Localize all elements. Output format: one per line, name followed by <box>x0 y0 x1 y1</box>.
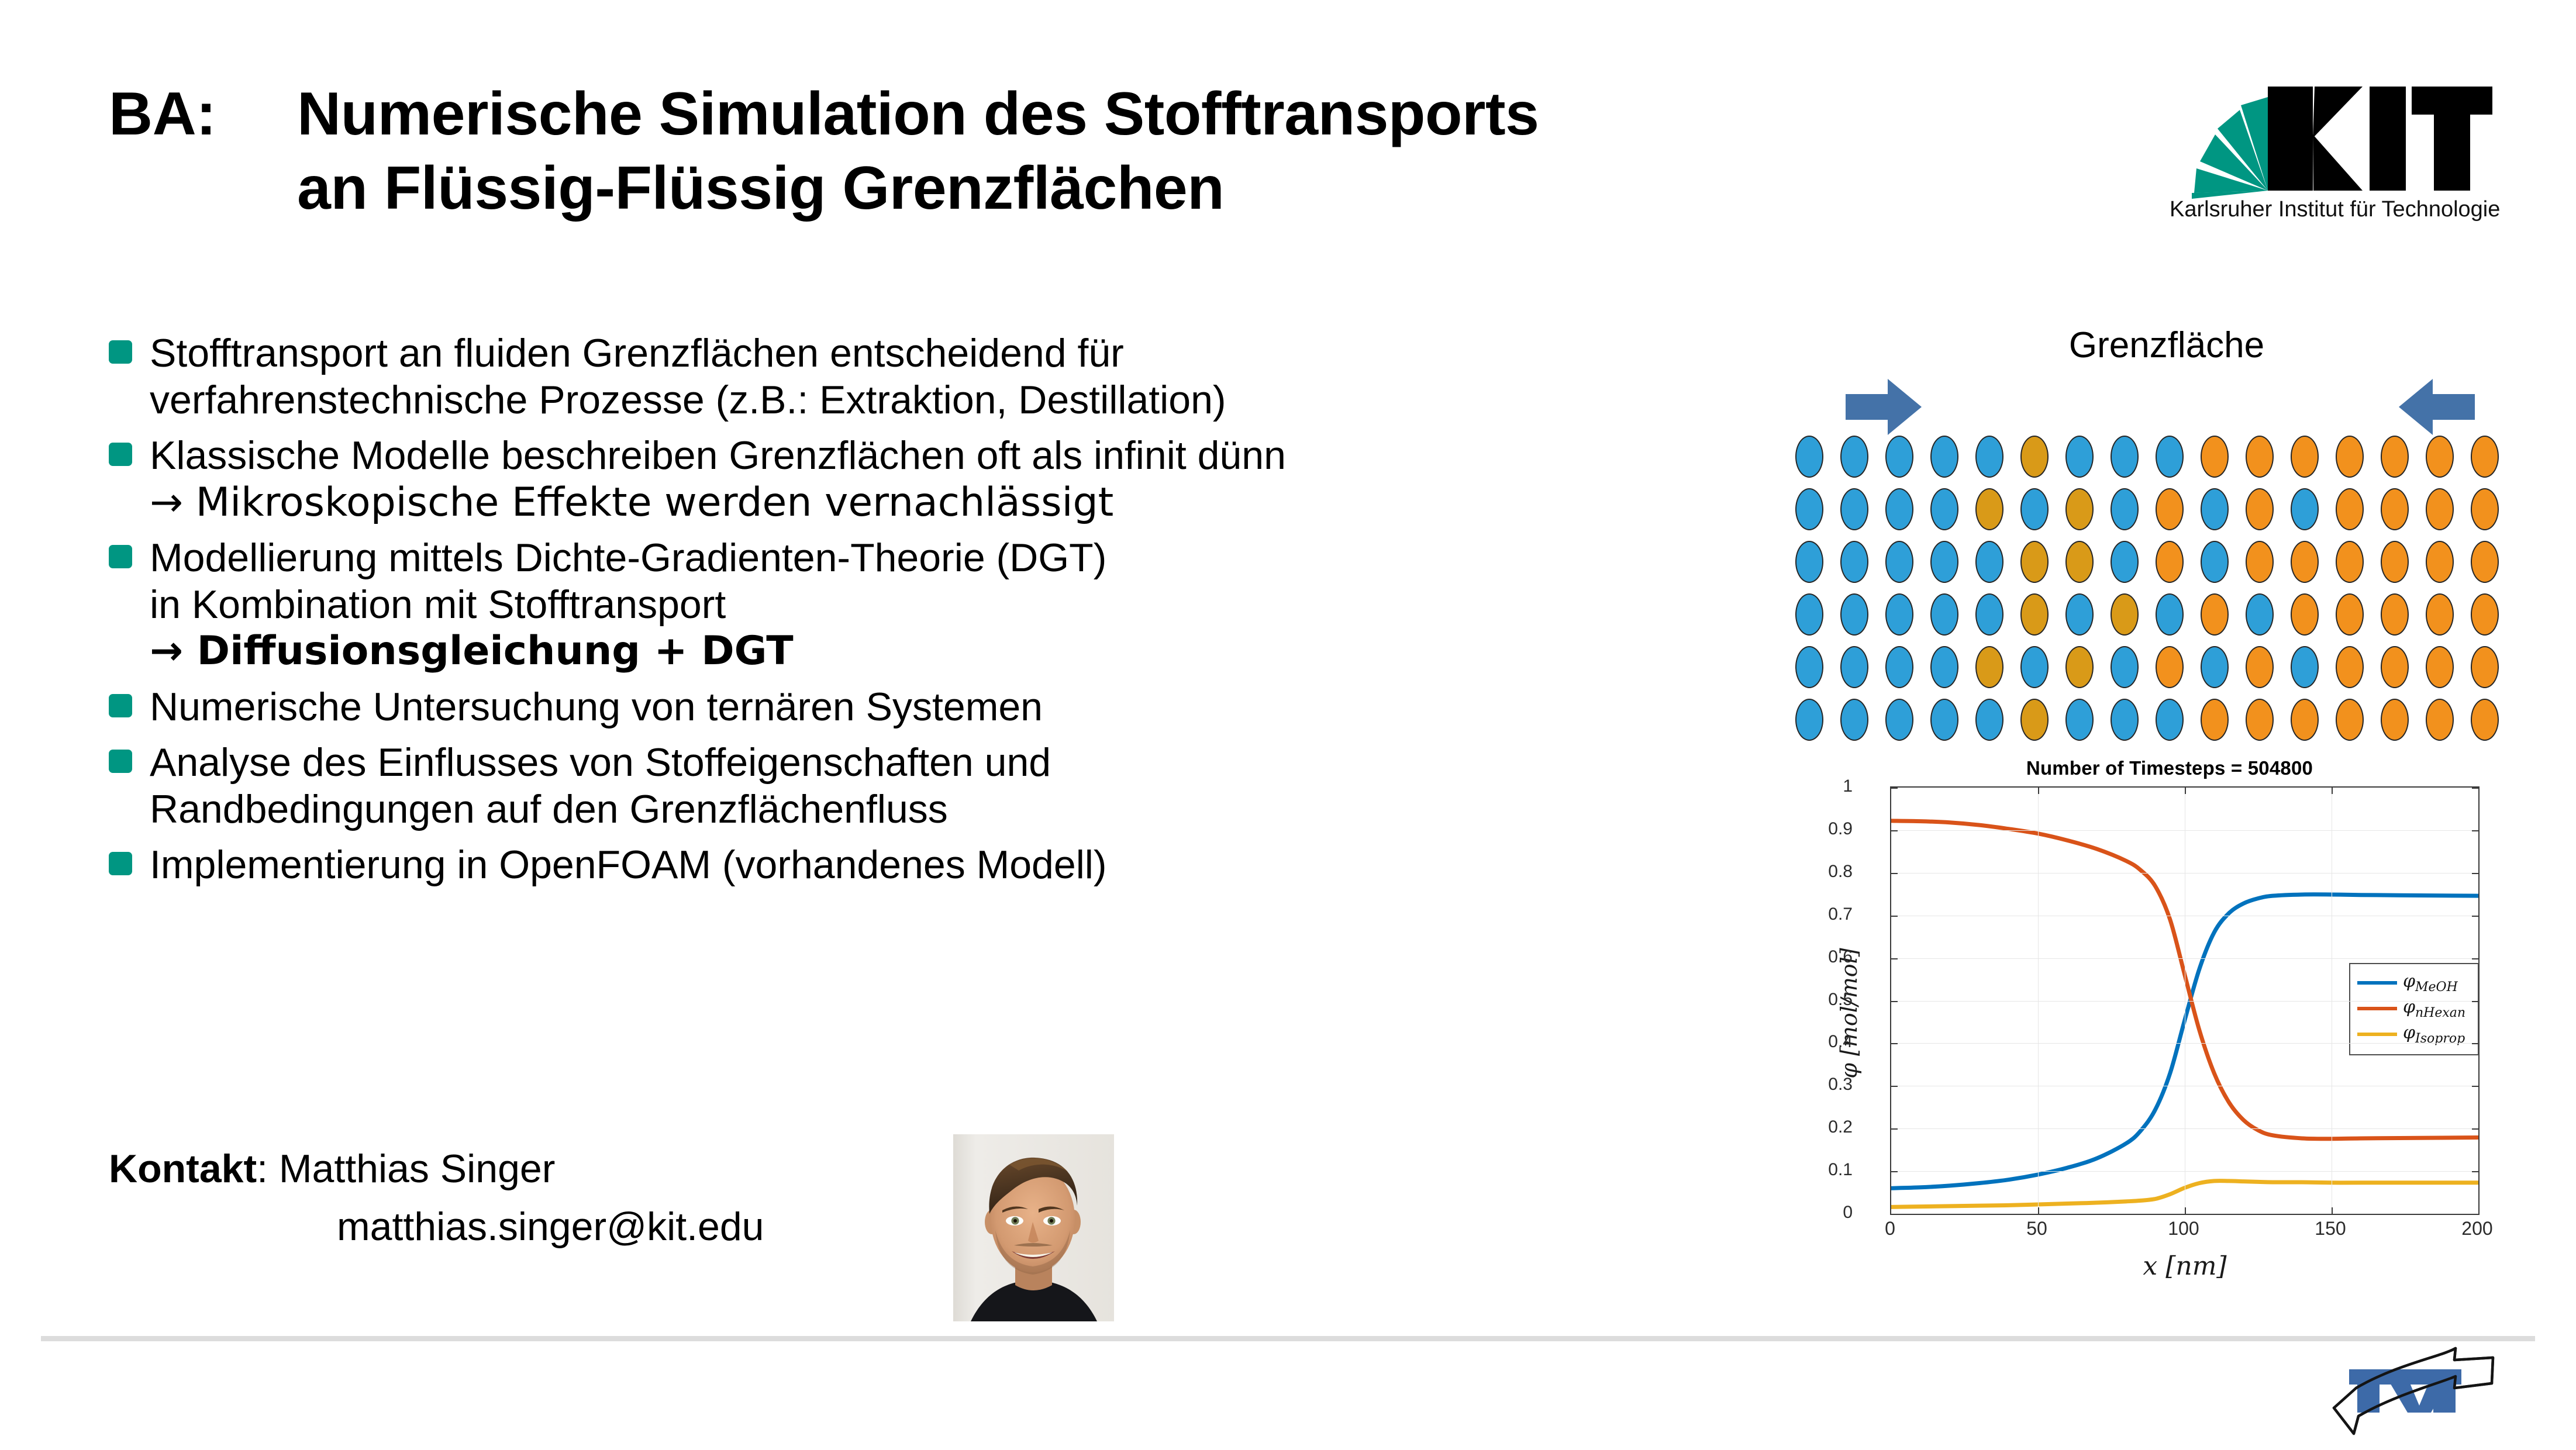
particle-dot-orange <box>2336 541 2364 583</box>
slide-canvas: BA:Numerische Simulation des Stofftransp… <box>0 0 2576 1450</box>
chart-tick-y <box>1891 788 1898 789</box>
particle-dot-orange <box>2426 646 2454 688</box>
particle-dot-blue <box>2065 699 2094 741</box>
bullet-list: Stofftransport an fluiden Grenzflächen e… <box>109 330 1758 898</box>
chart-tick-y <box>2472 1001 2478 1002</box>
particle-dot-blue <box>1975 593 2003 636</box>
chart-xtick-label: 0 <box>1849 1219 1931 1238</box>
bullet-line: Analyse des Einflusses von Stoffeigensch… <box>150 740 1051 786</box>
particle-dot-orange <box>2246 646 2274 688</box>
chart-ytick-label: 0.8 <box>1782 863 1853 881</box>
particle-dot-blue <box>2201 488 2229 530</box>
particle-dot-orange <box>2201 699 2229 741</box>
contact-separator: : <box>257 1147 279 1191</box>
chart-gridline-v <box>2038 788 2039 1214</box>
portrait-photo <box>953 1134 1114 1321</box>
legend-label-isoprop: φIsoprop <box>2403 1023 2465 1046</box>
particle-dot-blue <box>1930 436 1958 478</box>
particle-dot-orange <box>2426 541 2454 583</box>
particle-dot-blue <box>2065 593 2094 636</box>
particle-dot-orange <box>2426 488 2454 530</box>
particle-dot-gold <box>1975 488 2003 530</box>
chart-ytick-label: 0.4 <box>1782 1033 1853 1051</box>
particle-dot-gold <box>2020 699 2049 741</box>
contact-name: Matthias Singer <box>279 1147 555 1191</box>
particle-dot-orange <box>2381 699 2409 741</box>
chart-tick-y <box>2472 1043 2478 1044</box>
chart-tick-y <box>1891 1214 1898 1215</box>
chart-tick-y <box>1891 1128 1898 1130</box>
bullet-line: Klassische Modelle beschreiben Grenzfläc… <box>150 433 1286 479</box>
bullet-line: Numerische Untersuchung von ternären Sys… <box>150 684 1043 731</box>
concentration-profile-chart: Number of Timesteps = 504800 φ [mol/mol]… <box>1819 757 2520 1318</box>
particle-dot-orange <box>2291 593 2319 636</box>
chart-tick-y <box>1891 1001 1898 1002</box>
chart-tick-x <box>2038 788 2039 794</box>
tvt-logo-svg <box>2330 1345 2547 1447</box>
particle-dot-orange <box>2426 699 2454 741</box>
particle-dot-orange <box>2291 699 2319 741</box>
particle-dot-blue <box>1885 488 1913 530</box>
particle-dot-orange <box>2336 699 2364 741</box>
list-item: Klassische Modelle beschreiben Grenzfläc… <box>109 433 1758 526</box>
particle-dot-gold <box>2065 646 2094 688</box>
particle-dot-blue <box>1795 593 1823 636</box>
interface-particle-diagram: Grenzfläche <box>1789 327 2544 690</box>
particle-dot-blue <box>2291 646 2319 688</box>
chart-tick-y <box>1891 830 1898 831</box>
particle-dot-orange <box>2336 593 2364 636</box>
chart-gridline-v <box>2332 788 2332 1214</box>
legend-swatch-isoprop <box>2357 1033 2397 1036</box>
interface-label: Grenzfläche <box>1789 327 2544 364</box>
chart-xtick-label: 150 <box>2289 1219 2371 1238</box>
particle-dot-blue <box>2111 646 2139 688</box>
particle-dot-gold <box>2065 541 2094 583</box>
particle-dot-blue <box>1840 593 1868 636</box>
chart-tick-y <box>2472 873 2478 874</box>
list-item: Analyse des Einflusses von Stoffeigensch… <box>109 740 1758 833</box>
contact-label: Kontakt <box>109 1147 257 1191</box>
chart-tick-y <box>2472 830 2478 831</box>
particle-dot-orange <box>2471 593 2499 636</box>
title-prefix: BA: <box>109 77 297 151</box>
chart-tick-x <box>2038 1207 2039 1214</box>
contact-email-line: matthias.singer@kit.edu <box>109 1198 939 1256</box>
arrow-right-icon <box>1846 379 1922 438</box>
bullet-line: Implementierung in OpenFOAM (vorhandenes… <box>150 842 1107 889</box>
arrow-left-icon <box>2399 379 2475 438</box>
particle-dot-blue <box>1930 699 1958 741</box>
chart-ytick-label: 0.5 <box>1782 991 1853 1009</box>
particle-dot-blue <box>2156 436 2184 478</box>
particle-dot-blue <box>2201 646 2229 688</box>
chart-tick-x <box>2185 1207 2186 1214</box>
chart-ytick-label: 0.6 <box>1782 948 1853 966</box>
particle-dot-orange <box>2246 436 2274 478</box>
tvt-logo <box>2330 1345 2547 1447</box>
particle-dot-blue <box>1885 699 1913 741</box>
particle-dot-orange <box>2426 436 2454 478</box>
contact-name-line: Kontakt: Matthias Singer <box>109 1140 939 1198</box>
bullet-line: verfahrenstechnische Prozesse (z.B.: Ext… <box>150 377 1226 424</box>
chart-plot-area: φMeOH φnHexan φIsoprop <box>1890 786 2480 1215</box>
particle-dot-blue <box>2246 593 2274 636</box>
chart-tick-y <box>2472 958 2478 959</box>
footer-divider <box>41 1336 2535 1341</box>
particle-row <box>1795 488 2516 530</box>
particle-dot-orange <box>2336 436 2364 478</box>
bullet-line-arrow-bold: → Diffusionsgleichung + DGT <box>150 628 1106 675</box>
particle-dot-blue <box>1840 646 1868 688</box>
particle-row <box>1795 699 2516 741</box>
bullet-body: Klassische Modelle beschreiben Grenzfläc… <box>150 433 1286 526</box>
chart-tick-y <box>2472 1171 2478 1172</box>
legend-swatch-nhexan <box>2357 1007 2397 1010</box>
particle-dot-orange <box>2291 541 2319 583</box>
chart-ytick-label: 0.1 <box>1782 1161 1853 1179</box>
particle-dot-blue <box>2111 488 2139 530</box>
bullet-body: Implementierung in OpenFOAM (vorhandenes… <box>150 842 1107 889</box>
chart-tick-y <box>1891 1086 1898 1087</box>
chart-tick-y <box>1891 1043 1898 1044</box>
kit-fan-icon <box>2192 97 2268 199</box>
avatar <box>953 1134 1114 1321</box>
particle-dot-gold <box>2020 436 2049 478</box>
kit-logo: Karlsruher Institut für Technologie <box>2164 63 2515 239</box>
bullet-body: Modellierung mittels Dichte-Gradienten-T… <box>150 535 1106 675</box>
bullet-body: Numerische Untersuchung von ternären Sys… <box>150 684 1043 731</box>
title-main-2: an Flüssig-Flüssig Grenzflächen <box>297 154 1224 222</box>
legend-item: φnHexan <box>2357 996 2471 1021</box>
particle-dot-blue <box>2020 646 2049 688</box>
bullet-line: Modellierung mittels Dichte-Gradienten-T… <box>150 535 1106 582</box>
chart-tick-y <box>2472 916 2478 917</box>
particle-dot-orange <box>2336 488 2364 530</box>
bullet-marker-icon <box>109 340 132 364</box>
chart-ytick-label: 0.2 <box>1782 1118 1853 1136</box>
particle-dot-blue <box>1885 593 1913 636</box>
particle-dot-blue <box>1975 699 2003 741</box>
kit-tagline: Karlsruher Institut für Technologie <box>2170 197 2500 222</box>
bullet-line: Randbedingungen auf den Grenzflächenflus… <box>150 786 1051 833</box>
particle-dot-orange <box>2381 541 2409 583</box>
page-title: BA:Numerische Simulation des Stofftransp… <box>109 77 2062 226</box>
particle-row <box>1795 593 2516 636</box>
chart-gridline-v <box>2185 788 2185 1214</box>
title-line-1: BA:Numerische Simulation des Stofftransp… <box>109 77 2062 151</box>
particle-dot-blue <box>2156 593 2184 636</box>
kit-wordmark <box>2268 87 2492 191</box>
particle-dot-gold <box>2020 541 2049 583</box>
particle-dot-gold <box>1975 646 2003 688</box>
title-main-1: Numerische Simulation des Stofftransport… <box>297 80 1539 148</box>
particle-dot-blue <box>1975 436 2003 478</box>
bullet-line-arrow: → Mikroskopische Effekte werden vernachl… <box>150 479 1286 526</box>
bullet-marker-icon <box>109 852 132 875</box>
particle-dot-blue <box>1795 646 1823 688</box>
tvt-wordmark <box>2349 1369 2461 1413</box>
legend-item: φMeOH <box>2357 970 2471 996</box>
particle-dot-blue <box>1930 541 1958 583</box>
legend-label-meoh: φMeOH <box>2403 971 2458 995</box>
legend-swatch-meoh <box>2357 981 2397 985</box>
particle-dot-gold <box>2020 593 2049 636</box>
particle-dot-blue <box>1840 541 1868 583</box>
particle-dot-blue <box>1840 699 1868 741</box>
particle-dot-orange <box>2156 488 2184 530</box>
particle-dot-blue <box>1885 541 1913 583</box>
particle-dot-blue <box>2291 488 2319 530</box>
chart-tick-y <box>1891 873 1898 874</box>
chart-title: Number of Timesteps = 504800 <box>1819 757 2520 779</box>
particle-dot-blue <box>1840 488 1868 530</box>
chart-ytick-label: 1 <box>1782 778 1853 795</box>
list-item: Implementierung in OpenFOAM (vorhandenes… <box>109 842 1758 889</box>
particle-dot-blue <box>1930 593 1958 636</box>
particle-dot-orange <box>2156 646 2184 688</box>
particle-dot-blue <box>2201 541 2229 583</box>
contact-email[interactable]: matthias.singer@kit.edu <box>109 1198 939 1256</box>
chart-xtick-label: 50 <box>1996 1219 2078 1238</box>
particle-dot-blue <box>1930 646 1958 688</box>
particle-dot-orange <box>2156 541 2184 583</box>
bullet-marker-icon <box>109 443 132 466</box>
chart-tick-x <box>2185 788 2186 794</box>
chart-ytick-label: 0.3 <box>1782 1076 1853 1093</box>
particle-dot-blue <box>1885 646 1913 688</box>
particle-dot-orange <box>2246 699 2274 741</box>
chart-tick-x <box>2332 788 2333 794</box>
kit-logo-svg: Karlsruher Institut für Technologie <box>2164 63 2515 239</box>
bullet-body: Stofftransport an fluiden Grenzflächen e… <box>150 330 1226 423</box>
particle-dot-gold <box>2065 488 2094 530</box>
particle-dot-blue <box>1840 436 1868 478</box>
particle-dot-orange <box>2471 436 2499 478</box>
chart-tick-y <box>2472 1214 2478 1215</box>
particle-dot-orange <box>2471 699 2499 741</box>
particle-dot-orange <box>2291 436 2319 478</box>
particle-grid <box>1795 436 2516 751</box>
particle-dot-orange <box>2201 593 2229 636</box>
chart-xtick-label: 100 <box>2143 1219 2225 1238</box>
bullet-marker-icon <box>109 694 132 717</box>
chart-tick-x <box>2332 1207 2333 1214</box>
chart-tick-y <box>1891 916 1898 917</box>
contact-block: Kontakt: Matthias Singer matthias.singer… <box>109 1140 939 1255</box>
list-item: Stofftransport an fluiden Grenzflächen e… <box>109 330 1758 423</box>
title-line-2: an Flüssig-Flüssig Grenzflächen <box>109 151 2062 226</box>
list-item: Numerische Untersuchung von ternären Sys… <box>109 684 1758 731</box>
particle-dot-blue <box>2111 436 2139 478</box>
particle-row <box>1795 646 2516 688</box>
bullet-line: in Kombination mit Stofftransport <box>150 582 1106 629</box>
particle-dot-blue <box>2065 436 2094 478</box>
bullet-body: Analyse des Einflusses von Stoffeigensch… <box>150 740 1051 833</box>
particle-dot-blue <box>1795 699 1823 741</box>
particle-dot-blue <box>1930 488 1958 530</box>
chart-tick-y <box>2472 788 2478 789</box>
particle-dot-blue <box>1795 436 1823 478</box>
particle-dot-orange <box>2426 593 2454 636</box>
list-item: Modellierung mittels Dichte-Gradienten-T… <box>109 535 1758 675</box>
chart-ytick-label: 0.7 <box>1782 906 1853 923</box>
bullet-line: Stofftransport an fluiden Grenzflächen e… <box>150 330 1226 377</box>
particle-dot-blue <box>2111 541 2139 583</box>
chart-legend: φMeOH φnHexan φIsoprop <box>2349 963 2479 1055</box>
bullet-marker-icon <box>109 545 132 568</box>
bullet-marker-icon <box>109 750 132 773</box>
particle-dot-gold <box>2111 593 2139 636</box>
chart-ytick-label: 0 <box>1782 1204 1853 1221</box>
particle-dot-orange <box>2246 488 2274 530</box>
particle-dot-orange <box>2381 593 2409 636</box>
particle-dot-blue <box>1795 488 1823 530</box>
particle-dot-orange <box>2381 488 2409 530</box>
particle-dot-orange <box>2246 541 2274 583</box>
chart-ytick-label: 0.9 <box>1782 820 1853 838</box>
chart-xtick-label: 200 <box>2436 1219 2518 1238</box>
chart-tick-y <box>1891 1171 1898 1172</box>
particle-dot-orange <box>2201 436 2229 478</box>
particle-dot-orange <box>2471 541 2499 583</box>
chart-x-axis-label: x [nm] <box>1890 1251 2480 1281</box>
particle-dot-orange <box>2381 646 2409 688</box>
particle-dot-blue <box>1885 436 1913 478</box>
particle-dot-blue <box>2020 488 2049 530</box>
particle-dot-blue <box>2156 699 2184 741</box>
chart-tick-y <box>2472 1086 2478 1087</box>
particle-row <box>1795 436 2516 478</box>
particle-dot-orange <box>2336 646 2364 688</box>
particle-dot-blue <box>2111 699 2139 741</box>
particle-dot-orange <box>2381 436 2409 478</box>
particle-dot-orange <box>2471 646 2499 688</box>
particle-dot-blue <box>1795 541 1823 583</box>
particle-row <box>1795 541 2516 583</box>
chart-tick-y <box>2472 1128 2478 1130</box>
chart-tick-y <box>1891 958 1898 959</box>
particle-dot-blue <box>1975 541 2003 583</box>
particle-dot-orange <box>2471 488 2499 530</box>
